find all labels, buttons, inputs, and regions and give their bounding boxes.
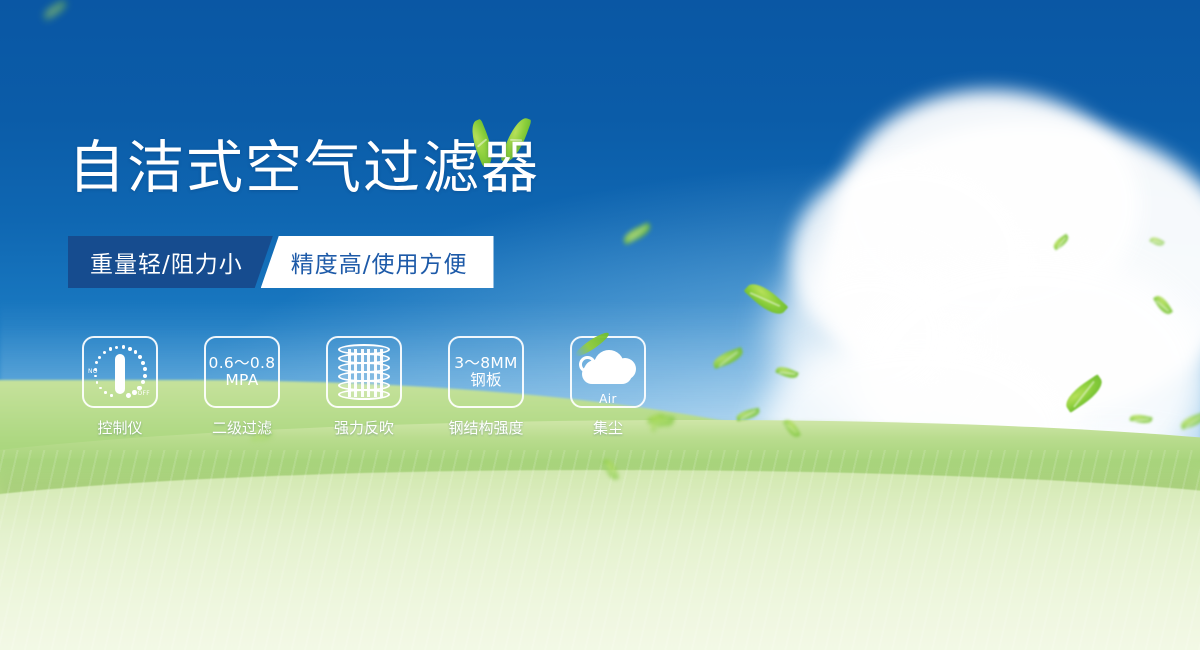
feature-label: 集尘 (593, 417, 623, 438)
feature-item[interactable]: NO OFF 控制仪 (74, 336, 166, 438)
dial-needle (115, 354, 125, 394)
subtitle-bar: 重量轻/阻力小 精度高/使用方便 (68, 236, 494, 288)
feature-item[interactable]: Air 集尘 (562, 336, 654, 438)
feature-item[interactable]: 0.6～0.8MPA 二级过滤 (196, 336, 288, 438)
feature-label: 控制仪 (97, 417, 142, 438)
feature-icon-box (326, 336, 402, 408)
subtitle-right: 精度高/使用方便 (261, 236, 494, 288)
filter-stack-icon (338, 344, 390, 400)
feature-label: 二级过滤 (212, 417, 272, 438)
feature-list: NO OFF 控制仪 0.6～0.8MPA 二级过滤 强力反吹 3～8MM钢板 (74, 336, 654, 438)
steel-plate-text-icon: 3～8MM钢板 (454, 355, 517, 390)
gauge-dial-icon: NO OFF (89, 342, 151, 402)
feature-icon-box: Air (570, 336, 646, 408)
air-label: Air (578, 392, 638, 406)
dial-off-label: OFF (137, 390, 150, 397)
hero-banner: 自洁式空气过滤器 重量轻/阻力小 精度高/使用方便 NO OFF 控制仪 0.6… (0, 0, 1200, 650)
subtitle-left: 重量轻/阻力小 (68, 236, 273, 288)
feature-label: 强力反吹 (334, 417, 394, 438)
feature-item[interactable]: 3～8MM钢板 钢结构强度 (440, 336, 532, 438)
feature-icon-box: 0.6～0.8MPA (204, 336, 280, 408)
pressure-text-icon: 0.6～0.8MPA (209, 355, 276, 390)
page-title: 自洁式空气过滤器 (68, 140, 540, 197)
feature-icon-box: NO OFF (82, 336, 158, 408)
air-cloud-icon: Air (578, 346, 638, 398)
feature-item[interactable]: 强力反吹 (318, 336, 410, 438)
feature-icon-box: 3～8MM钢板 (448, 336, 524, 408)
feature-label: 钢结构强度 (448, 417, 523, 438)
